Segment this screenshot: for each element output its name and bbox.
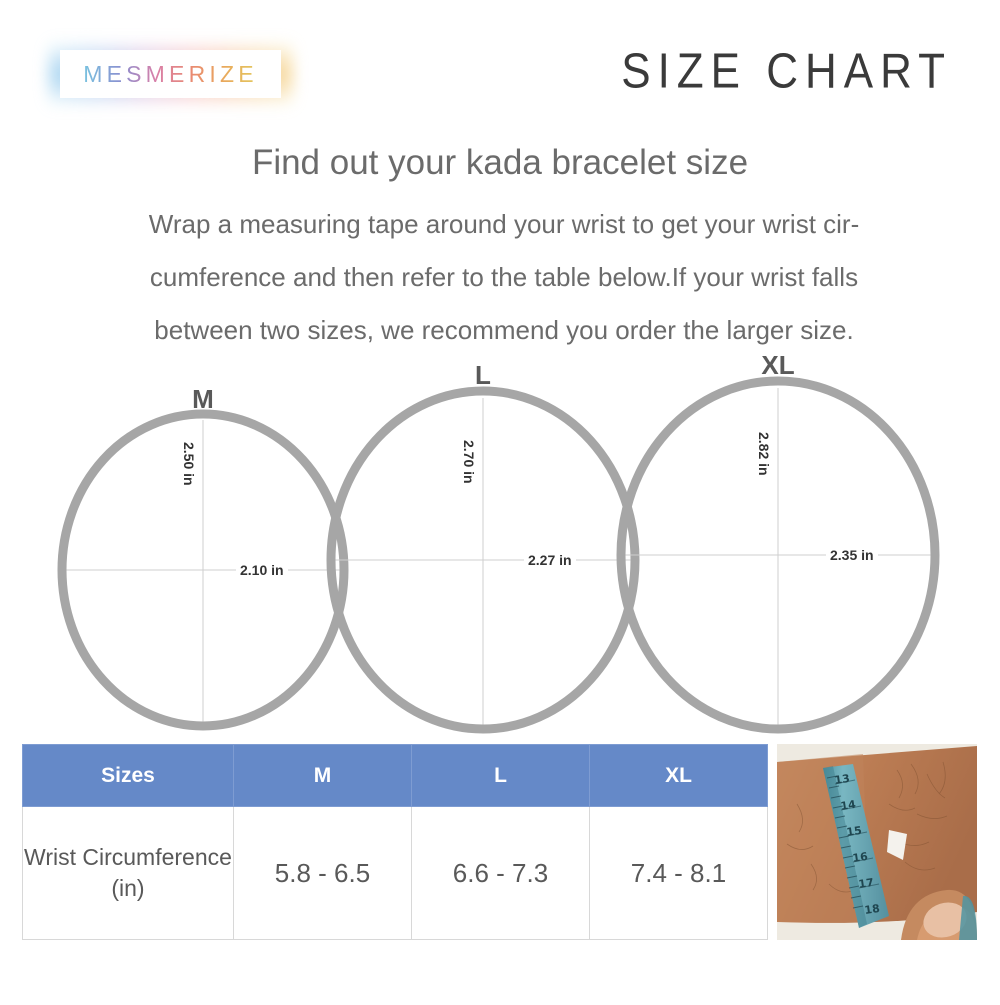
tape-mark-18: 18 (864, 902, 881, 917)
wrist-measurement-photo: 13 14 15 16 17 18 (777, 744, 977, 940)
intro-line-3: between two sizes, we recommend you orde… (50, 304, 958, 357)
table-row: Wrist Circumference (in) 5.8 - 6.5 6.6 -… (23, 807, 768, 940)
brand-logo: MESMERIZE (48, 38, 293, 110)
logo-box: MESMERIZE (60, 50, 281, 98)
intro-line-1: Wrap a measuring tape around your wrist … (50, 198, 958, 251)
oval-height-xl: 2.82 in (756, 432, 772, 476)
size-table-head: Sizes M L XL (23, 745, 768, 807)
oval-height-m: 2.50 in (181, 442, 197, 486)
cell-l: 6.6 - 7.3 (412, 807, 590, 940)
wrist-photo-illustration: 13 14 15 16 17 18 (777, 744, 977, 940)
th-sizes: Sizes (23, 745, 234, 807)
oval-l (331, 391, 635, 729)
size-table: Sizes M L XL Wrist Circumference (in) 5.… (22, 744, 768, 940)
oval-xl (621, 381, 935, 729)
th-m: M (234, 745, 412, 807)
oval-width-l: 2.27 in (524, 552, 576, 568)
table-header-row: Sizes M L XL (23, 745, 768, 807)
tape-mark-13: 13 (834, 772, 851, 787)
logo-text: MESMERIZE (83, 61, 258, 88)
intro-line-2: cumference and then refer to the table b… (50, 251, 958, 304)
page-title: SIZE CHART (621, 44, 952, 100)
tape-mark-17: 17 (858, 876, 875, 891)
tape-mark-15: 15 (846, 824, 863, 839)
oval-label-l: L (475, 360, 491, 391)
headline: Find out your kada bracelet size (0, 143, 1000, 183)
oval-label-m: M (192, 384, 214, 415)
oval-height-l: 2.70 in (461, 440, 477, 484)
th-xl: XL (590, 745, 768, 807)
row-label-wrist-circumference: Wrist Circumference (in) (23, 807, 234, 940)
size-table-body: Wrist Circumference (in) 5.8 - 6.5 6.6 -… (23, 807, 768, 940)
size-chart-page: MESMERIZE SIZE CHART Find out your kada … (0, 0, 1000, 1000)
th-l: L (412, 745, 590, 807)
oval-width-xl: 2.35 in (826, 547, 878, 563)
oval-m (62, 414, 344, 726)
cell-xl: 7.4 - 8.1 (590, 807, 768, 940)
tape-mark-16: 16 (852, 850, 869, 865)
cell-m: 5.8 - 6.5 (234, 807, 412, 940)
tape-mark-14: 14 (840, 798, 857, 813)
intro-paragraph: Wrap a measuring tape around your wrist … (50, 198, 958, 357)
oval-width-m: 2.10 in (236, 562, 288, 578)
